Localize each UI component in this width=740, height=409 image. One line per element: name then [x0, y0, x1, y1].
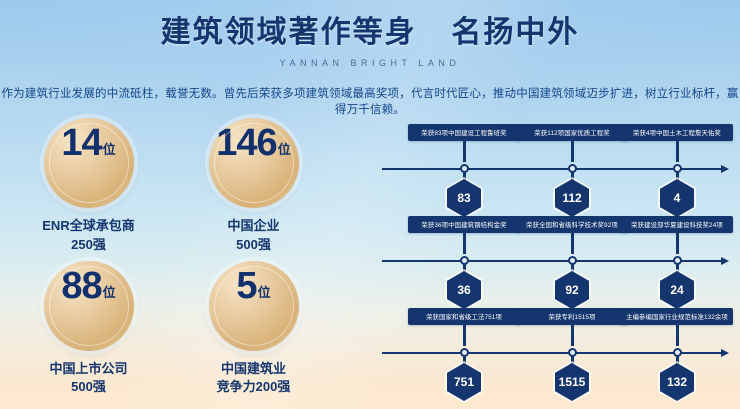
timeline-axis-arrow [382, 260, 722, 262]
stat-unit: 位 [278, 139, 291, 158]
stat-caption: ENR全球承包商 250强 [42, 217, 134, 255]
stat-caption: 中国企业 500强 [227, 217, 279, 255]
page-title-left: 建筑领域著作等身 [161, 16, 417, 49]
timeline-row: 荣获36项中国建筑钢结构金奖 36 荣获全国和省级科学技术奖92项 92 荣获建… [378, 216, 734, 308]
medal-badge: 14 位 [44, 118, 134, 208]
node-stem [571, 233, 574, 254]
medal-badge: 5 位 [209, 261, 299, 351]
award-label: 荣获建设部华夏建设科技奖24项 [621, 216, 733, 233]
stat-caption-line2: 竞争力200强 [217, 378, 291, 397]
award-label: 荣获36项中国建筑钢结构金奖 [408, 216, 520, 233]
timeline-axis-arrow [382, 352, 722, 354]
stat-unit: 位 [103, 139, 116, 158]
timeline-node[interactable]: 荣获全国和省级科学技术奖92项 92 [516, 216, 628, 233]
node-stem [463, 141, 466, 162]
stat-caption-line2: 500强 [49, 378, 127, 397]
timeline-node[interactable]: 荣获建设部华夏建设科技奖24项 24 [621, 216, 733, 233]
node-stem [571, 141, 574, 162]
stat-caption-line1: 中国企业 [227, 217, 279, 236]
timeline-node[interactable]: 荣获36项中国建筑钢结构金奖 36 [408, 216, 520, 233]
stat-card: 5 位 中国建筑业 竞争力200强 [171, 261, 336, 404]
timeline-node[interactable]: 荣获国家和省级工法751项 751 [408, 308, 520, 325]
stat-caption-line1: 中国上市公司 [49, 360, 127, 379]
stat-unit: 位 [103, 282, 116, 301]
node-stem [676, 141, 679, 162]
stat-value: 146 [216, 124, 276, 162]
stat-card: 14 位 ENR全球承包商 250强 [6, 118, 171, 261]
stat-caption-line2: 250强 [42, 236, 134, 255]
timeline-row: 荣获83项中国建设工程鲁班奖 83 荣获112项国家优质工程奖 112 荣获4项… [378, 124, 734, 216]
award-label: 荣获112项国家优质工程奖 [516, 124, 628, 141]
award-label: 荣获83项中国建设工程鲁班奖 [408, 124, 520, 141]
timeline-axis-arrow [382, 168, 722, 170]
stat-caption-line1: 中国建筑业 [217, 360, 291, 379]
award-label: 主编参编国家行业规范标准132余项 [621, 308, 733, 325]
stat-caption-line1: ENR全球承包商 [42, 217, 134, 236]
timeline-node[interactable]: 荣获83项中国建设工程鲁班奖 83 [408, 124, 520, 141]
timeline-row: 荣获国家和省级工法751项 751 荣获专利1515项 1515 主编参编国家行… [378, 308, 734, 400]
node-stem [463, 233, 466, 254]
page-title: 建筑领域著作等身 名扬中外 [0, 14, 740, 52]
node-stem [571, 325, 574, 346]
stat-value: 14 [61, 124, 101, 162]
medal-badge: 88 位 [44, 261, 134, 351]
timeline-node[interactable]: 荣获4项中国土木工程詹天佑奖 4 [621, 124, 733, 141]
awards-timeline: 荣获83项中国建设工程鲁班奖 83 荣获112项国家优质工程奖 112 荣获4项… [378, 124, 734, 402]
award-label: 荣获4项中国土木工程詹天佑奖 [621, 124, 733, 141]
stat-unit: 位 [258, 282, 271, 301]
stat-value: 5 [236, 267, 256, 305]
stat-value: 88 [61, 267, 101, 305]
timeline-node[interactable]: 荣获112项国家优质工程奖 112 [516, 124, 628, 141]
stat-caption: 中国建筑业 竞争力200强 [217, 360, 291, 398]
stat-card: 146 位 中国企业 500强 [171, 118, 336, 261]
medal-badge: 146 位 [209, 118, 299, 208]
node-stem [463, 325, 466, 346]
page-title-right: 名扬中外 [451, 16, 579, 49]
award-label: 荣获专利1515项 [516, 308, 628, 325]
stat-caption-line2: 500强 [227, 236, 279, 255]
page-subtitle: YANNAN BRIGHT LAND [0, 58, 740, 68]
page-header: 建筑领域著作等身 名扬中外 YANNAN BRIGHT LAND [0, 14, 740, 68]
timeline-node[interactable]: 主编参编国家行业规范标准132余项 132 [621, 308, 733, 325]
award-label: 荣获国家和省级工法751项 [408, 308, 520, 325]
node-stem [676, 233, 679, 254]
timeline-node[interactable]: 荣获专利1515项 1515 [516, 308, 628, 325]
intro-paragraph: 作为建筑行业发展的中流砥柱，载誉无数。曾先后荣获多项建筑领域最高奖项，代言时代匠… [0, 85, 740, 117]
stats-grid: 14 位 ENR全球承包商 250强 146 位 中国企业 500强 88 位 … [6, 118, 336, 403]
stat-caption: 中国上市公司 500强 [49, 360, 127, 398]
award-label: 荣获全国和省级科学技术奖92项 [516, 216, 628, 233]
node-stem [676, 325, 679, 346]
stat-card: 88 位 中国上市公司 500强 [6, 261, 171, 404]
